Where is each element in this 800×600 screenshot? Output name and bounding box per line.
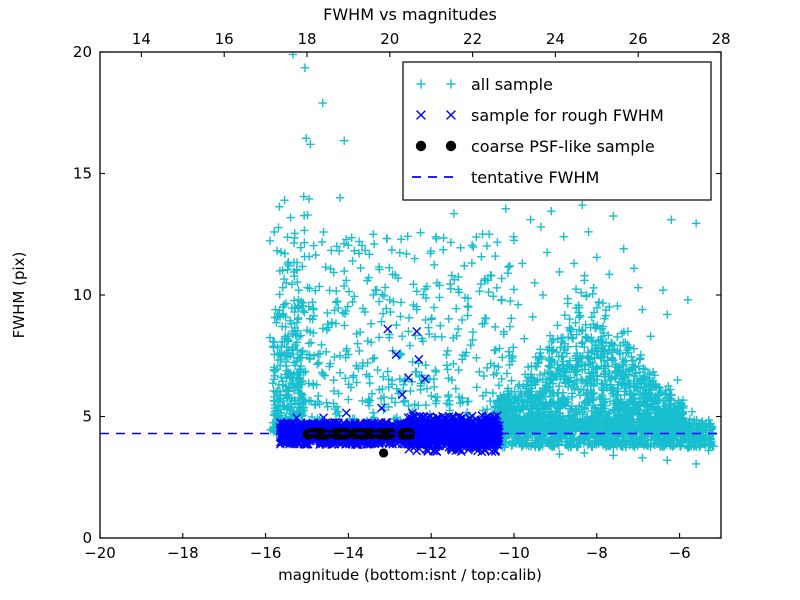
- x-tick-label: −18: [167, 544, 199, 562]
- x-tick-label: −16: [250, 544, 282, 562]
- legend-label: tentative FWHM: [471, 168, 599, 187]
- chart-legend[interactable]: all samplesample for rough FWHMcoarse PS…: [403, 62, 711, 200]
- x-tick-label-top: 26: [629, 30, 648, 48]
- y-axis-label: FWHM (pix): [10, 252, 28, 339]
- x-tick-label-top: 28: [711, 30, 730, 48]
- y-tick-label: 20: [73, 43, 92, 61]
- x-tick-label: −14: [333, 544, 365, 562]
- x-tick-label-top: 20: [380, 30, 399, 48]
- x-tick-label: −12: [415, 544, 447, 562]
- x-tick-label-top: 14: [132, 30, 151, 48]
- x-axis-label: magnitude (bottom:isnt / top:calib): [278, 566, 542, 584]
- y-tick-label: 10: [73, 286, 92, 304]
- x-tick-label: −10: [498, 544, 530, 562]
- x-tick-label: −8: [586, 544, 608, 562]
- x-tick-label-top: 22: [463, 30, 482, 48]
- y-tick-label: 5: [82, 408, 92, 426]
- figure-canvas: −20−18−16−14−12−10−8−6141618202224262805…: [0, 0, 800, 600]
- scatter-plot: −20−18−16−14−12−10−8−6141618202224262805…: [0, 0, 800, 600]
- legend-label: coarse PSF-like sample: [471, 137, 655, 156]
- x-tick-label-top: 24: [546, 30, 565, 48]
- chart-title: FWHM vs magnitudes: [323, 5, 497, 24]
- legend-label: sample for rough FWHM: [471, 106, 664, 125]
- x-tick-label: −6: [669, 544, 691, 562]
- legend-label: all sample: [471, 75, 553, 94]
- x-tick-label-top: 18: [297, 30, 316, 48]
- x-tick-label-top: 16: [215, 30, 234, 48]
- y-tick-label: 0: [82, 529, 92, 547]
- y-tick-label: 15: [73, 165, 92, 183]
